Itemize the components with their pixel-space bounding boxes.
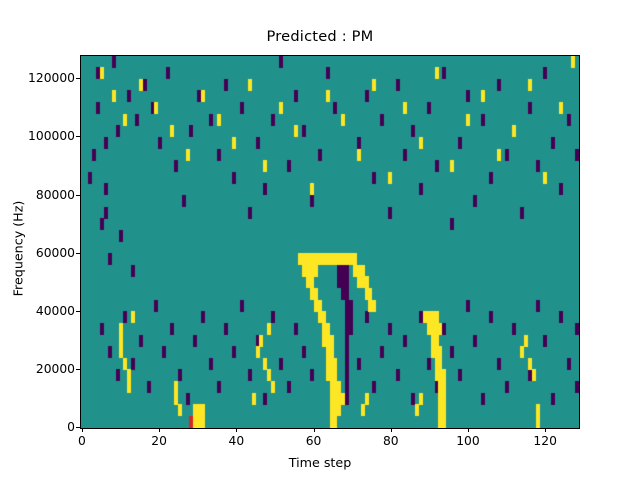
- x-tick-mark: [82, 428, 83, 432]
- page-title: Predicted : PM: [0, 28, 640, 45]
- y-tick-label: 0: [67, 420, 75, 434]
- x-tick-label: 80: [383, 434, 399, 448]
- x-tick-label: 40: [229, 434, 245, 448]
- x-tick-label: 0: [78, 434, 86, 448]
- y-tick-label: 120000: [28, 71, 75, 85]
- y-tick-mark: [76, 427, 80, 428]
- y-tick-mark: [76, 369, 80, 370]
- x-tick-mark: [391, 428, 392, 432]
- heatmap-axes: [80, 55, 580, 429]
- y-tick-mark: [76, 195, 80, 196]
- y-tick-mark: [76, 311, 80, 312]
- y-tick-label: 60000: [36, 246, 75, 260]
- y-tick-mark: [76, 78, 80, 79]
- x-tick-mark: [468, 428, 469, 432]
- y-tick-mark: [76, 136, 80, 137]
- x-tick-mark: [314, 428, 315, 432]
- x-tick-label: 120: [533, 434, 556, 448]
- x-tick-mark: [545, 428, 546, 432]
- y-axis-label: Frequency (Hz): [11, 149, 26, 349]
- x-tick-label: 20: [151, 434, 167, 448]
- x-tick-mark: [159, 428, 160, 432]
- y-tick-label: 20000: [36, 362, 75, 376]
- x-axis-label: Time step: [0, 455, 640, 470]
- y-tick-mark: [76, 253, 80, 254]
- y-tick-label: 80000: [36, 188, 75, 202]
- figure-canvas: Predicted : PM 020406080100120 020000400…: [0, 0, 640, 480]
- x-tick-mark: [236, 428, 237, 432]
- y-tick-label: 100000: [28, 129, 75, 143]
- x-tick-label: 60: [306, 434, 322, 448]
- heatmap-image: [81, 56, 579, 428]
- y-tick-label: 40000: [36, 304, 75, 318]
- x-tick-label: 100: [456, 434, 479, 448]
